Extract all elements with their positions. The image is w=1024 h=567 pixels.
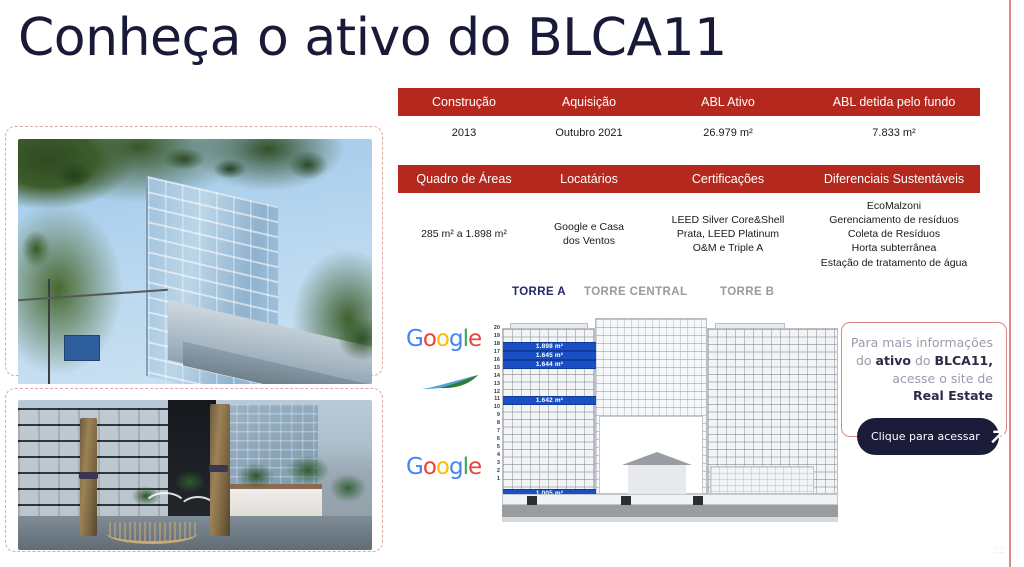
photo-hammock (106, 522, 198, 544)
table-cell-locatarios-value: Google e Casa dos Ventos (530, 193, 648, 280)
photo-palm-trunk (80, 418, 97, 536)
tower-label-a: TORRE A (512, 286, 566, 298)
slide-root: Conheça o ativo do BLCA11 (0, 0, 1024, 567)
cta-bold-real-estate: Real Estate (913, 388, 993, 403)
table-header-abl-ativo: ABL Ativo (648, 88, 808, 116)
table-header-quadro-areas: Quadro de Áreas (398, 165, 530, 193)
ground-shadow (502, 517, 838, 522)
floor-area-band-18: 1.644 m² (503, 360, 596, 369)
table-row-divider (398, 151, 980, 165)
table-header-locatarios: Locatários (530, 165, 648, 193)
table-header-row-2: Quadro de Áreas Locatários Certificações… (398, 165, 980, 193)
table-cell-construcao-value: 2013 (398, 116, 530, 151)
photo-street-sign (64, 335, 100, 361)
podium-entrance (693, 496, 703, 505)
floor-number: 18 (482, 342, 500, 349)
low-rise-annex (710, 466, 814, 494)
tower-label-central: TORRE CENTRAL (584, 286, 687, 298)
table-cell-abl-fundo-value: 7.833 m² (808, 116, 980, 151)
photo-light-pole (48, 279, 50, 384)
cta-bold-blca11: BLCA11, (935, 353, 993, 368)
heritage-pavilion (628, 464, 686, 494)
building-silhouette: 1.898 m² 1.645 m² 1.644 m² 1.642 m² 1.00… (502, 316, 838, 516)
page-number: 12 (994, 545, 1004, 555)
podium-level (502, 494, 838, 505)
photo-palm-trunk (210, 404, 230, 536)
cta-line-2-prefix: do (856, 353, 876, 368)
cta-line-3: acesse o site de (892, 371, 993, 386)
google-logo-bottom: Google (406, 454, 481, 480)
casa-dos-ventos-logo (420, 374, 482, 394)
building-elevation-diagram: TORRE A TORRE CENTRAL TORRE B Google Goo… (398, 286, 838, 536)
tower-label-b: TORRE B (720, 286, 774, 298)
floor-number: 16 (482, 358, 500, 365)
floor-number: 2 (482, 469, 500, 476)
cta-line-2-mid: do (911, 353, 935, 368)
cta-button-label: Clique para acessar (871, 430, 980, 443)
floor-area-band-19: 1.645 m² (503, 351, 596, 360)
floor-area-band-14: 1.642 m² (503, 396, 596, 405)
podium-entrance (621, 496, 631, 505)
cta-message: Para mais informações do ativo do BLCA11… (845, 334, 1003, 405)
arrow-up-right-icon (988, 427, 1008, 447)
cta-access-button[interactable]: Clique para acessar (857, 418, 999, 455)
table-cell-diferenciais-value: EcoMalzoni Gerenciamento de resíduos Col… (808, 193, 980, 280)
ground-plane (502, 505, 838, 517)
table-cell-aquisicao-value: Outubro 2021 (530, 116, 648, 151)
photo-frame-building (5, 126, 383, 376)
tower-a-body: 1.898 m² 1.645 m² 1.644 m² 1.642 m² 1.00… (502, 328, 595, 494)
table-header-aquisicao: Aquisição (530, 88, 648, 116)
table-row-2: 285 m² a 1.898 m² Google e Casa dos Vent… (398, 193, 980, 280)
table-header-construcao: Construção (398, 88, 530, 116)
floor-number: 15 (482, 366, 500, 373)
podium-entrance (527, 496, 537, 505)
asset-info-table: Construção Aquisição ABL Ativo ABL detid… (398, 88, 980, 280)
table-cell-certificacoes-value: LEED Silver Core&Shell Prata, LEED Plati… (648, 193, 808, 280)
page-title: Conheça o ativo do BLCA11 (18, 8, 727, 68)
photo-plaza-fountain (18, 400, 372, 550)
right-accent-rule (1009, 0, 1011, 567)
table-header-row-1: Construção Aquisição ABL Ativo ABL detid… (398, 88, 980, 116)
photo-building-exterior (18, 139, 372, 384)
floor-area-band-20: 1.898 m² (503, 342, 596, 351)
table-header-certificacoes: Certificações (648, 165, 808, 193)
floor-number: 14 (482, 374, 500, 381)
tower-label-group: TORRE A TORRE CENTRAL TORRE B (502, 286, 838, 304)
floor-number: 1 (482, 477, 500, 484)
floor-number: 13 (482, 382, 500, 389)
floor-number-axis: 1 2 3 4 5 6 7 8 9 10 11 12 13 14 15 16 1… (482, 326, 500, 484)
photo-frame-plaza (5, 388, 383, 552)
cta-bold-ativo: ativo (876, 353, 911, 368)
table-header-abl-fundo: ABL detida pelo fundo (808, 88, 980, 116)
table-cell-quadro-areas-value: 285 m² a 1.898 m² (398, 193, 530, 280)
google-logo-top: Google (406, 326, 481, 352)
table-header-diferenciais: Diferenciais Sustentáveis (808, 165, 980, 193)
cta-line-1: Para mais informações (851, 335, 993, 350)
table-row-1: 2013 Outubro 2021 26.979 m² 7.833 m² (398, 116, 980, 151)
floor-number: 17 (482, 350, 500, 357)
table-cell-abl-ativo-value: 26.979 m² (648, 116, 808, 151)
